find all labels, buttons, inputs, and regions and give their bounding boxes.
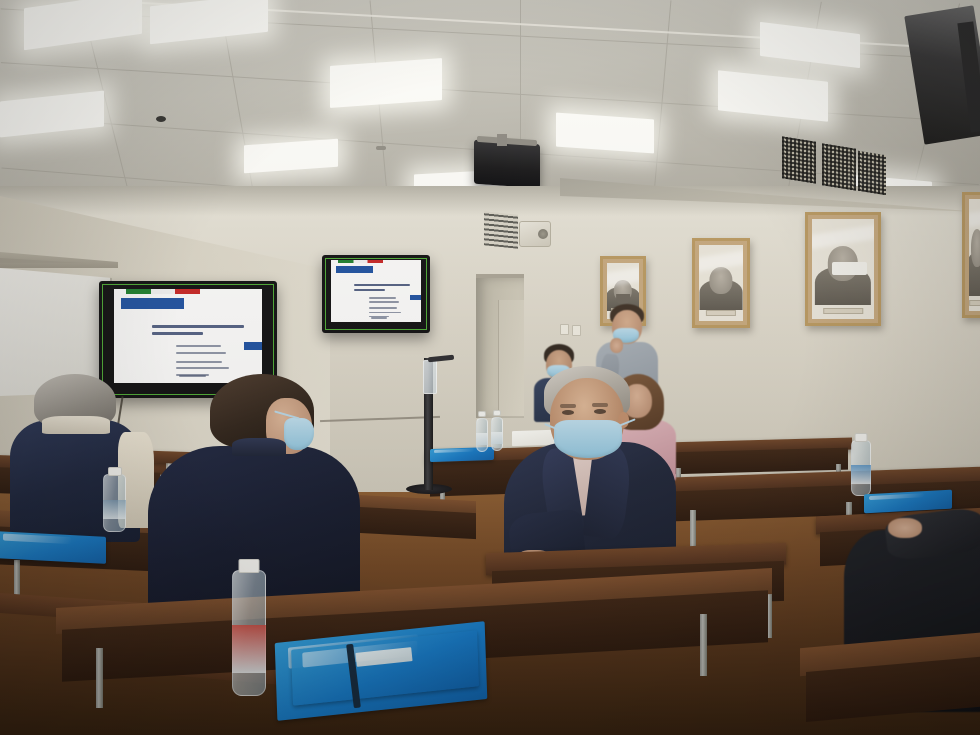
portrait-nameplate xyxy=(969,300,980,306)
portrait-nameplate xyxy=(823,308,863,314)
portrait-image xyxy=(969,199,980,311)
ceiling-light-panel xyxy=(556,113,654,154)
water-bottle[interactable] xyxy=(476,418,488,452)
portrait-nameplate xyxy=(706,310,736,316)
portrait-head xyxy=(709,267,732,294)
ceiling-projector xyxy=(474,140,540,189)
wall-monitor-right[interactable] xyxy=(322,255,430,333)
water-bottle[interactable] xyxy=(851,440,871,496)
light-switch[interactable] xyxy=(560,324,569,335)
water-bottle[interactable] xyxy=(103,474,126,532)
portrait-image xyxy=(812,219,874,319)
ventilation-grille xyxy=(858,151,886,195)
photo-scene xyxy=(0,0,980,735)
shirt-collar xyxy=(42,416,110,434)
slide-flag-stripe xyxy=(126,289,200,294)
slide-subheading xyxy=(152,332,202,335)
ventilation-grille xyxy=(822,143,856,190)
slide-heading xyxy=(354,284,410,286)
light-switch[interactable] xyxy=(572,325,581,336)
slide-body-line xyxy=(369,312,401,314)
slide-corner-badge xyxy=(244,342,262,350)
ventilation-grille xyxy=(484,211,518,249)
slide-body-line xyxy=(176,361,222,363)
slide-university-logo xyxy=(336,266,374,273)
portrait-glass-glare xyxy=(969,210,980,227)
wall-portrait-4 xyxy=(962,192,980,318)
slide-flag-stripe xyxy=(338,260,383,263)
water-bottle[interactable] xyxy=(491,417,503,451)
portrait-paper-mask xyxy=(832,262,867,275)
slide-footer-line xyxy=(371,317,387,319)
slide-corner-badge xyxy=(410,295,421,300)
slide-subheading xyxy=(354,289,385,291)
ceiling-light-panel xyxy=(330,58,442,108)
slide-body-line xyxy=(176,352,226,354)
wall-portrait-3 xyxy=(805,212,881,326)
desk-leg xyxy=(700,614,707,676)
slide-university-logo xyxy=(121,298,183,309)
slide-body-line xyxy=(176,367,229,369)
slide-body-line xyxy=(369,297,396,299)
person-foreground-left-gray-vest xyxy=(6,374,166,538)
sanitizer-bottle[interactable] xyxy=(423,360,437,394)
slide-heading xyxy=(152,325,244,328)
portrait-head xyxy=(971,229,980,267)
projector-mount xyxy=(497,134,507,146)
slide-body-line xyxy=(176,345,220,347)
presentation-slide xyxy=(331,260,421,322)
slide-body-line xyxy=(369,301,400,303)
portrait-image xyxy=(699,245,743,321)
presentation-slide xyxy=(114,289,262,383)
ventilation-grille xyxy=(782,136,816,183)
slide-body-line xyxy=(369,307,397,309)
smoke-detector-icon xyxy=(156,116,166,122)
desk-row-right-back-front xyxy=(668,448,848,475)
water-bottle[interactable] xyxy=(232,570,266,696)
portrait-glass-glare xyxy=(607,267,639,287)
blue-folder[interactable] xyxy=(0,531,106,564)
ceiling-sensor-icon xyxy=(376,146,386,150)
jacket-collar xyxy=(232,438,286,456)
wall-portrait-2 xyxy=(692,238,750,328)
wall-speaker xyxy=(519,221,551,247)
desk-leg xyxy=(96,648,103,708)
